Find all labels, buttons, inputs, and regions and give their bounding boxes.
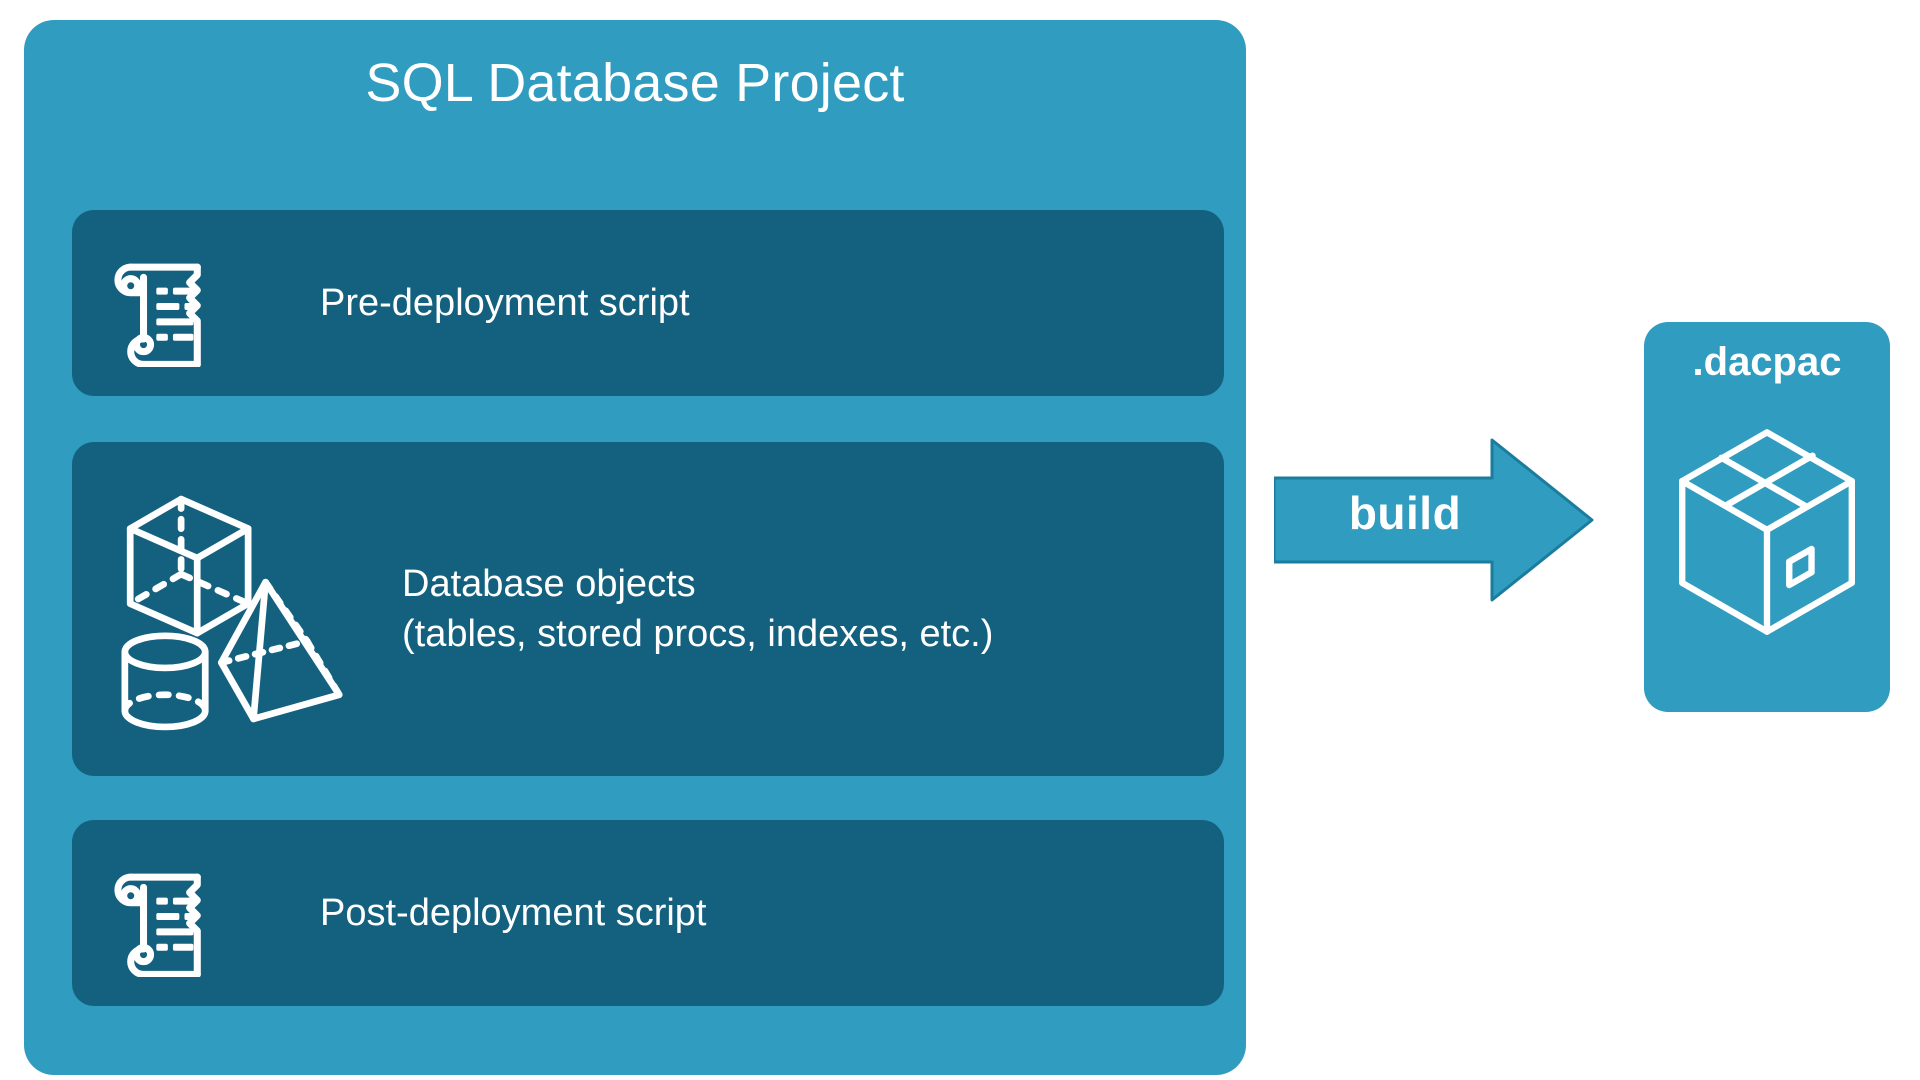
dacpac-output-card[interactable]: .dacpac bbox=[1644, 322, 1890, 712]
scroll-icon bbox=[100, 849, 228, 977]
scroll-icon bbox=[100, 239, 228, 367]
package-box-icon bbox=[1661, 402, 1873, 662]
page-title: SQL Database Project bbox=[24, 54, 1246, 113]
3d-shapes-icon bbox=[90, 475, 358, 743]
card-label-pre-deployment: Pre-deployment script bbox=[320, 278, 690, 328]
cylinder-shape bbox=[125, 636, 205, 727]
card-database-objects[interactable]: Database objects (tables, stored procs, … bbox=[72, 442, 1224, 776]
diagram-canvas: SQL Database Project bbox=[0, 0, 1920, 1080]
sql-database-project-panel: SQL Database Project bbox=[24, 20, 1246, 1075]
card-pre-deployment[interactable]: Pre-deployment script bbox=[72, 210, 1224, 396]
dacpac-title: .dacpac bbox=[1644, 342, 1890, 382]
card-post-deployment[interactable]: Post-deployment script bbox=[72, 820, 1224, 1006]
card-label-post-deployment: Post-deployment script bbox=[320, 888, 707, 938]
card-label-database-objects: Database objects (tables, stored procs, … bbox=[402, 559, 993, 659]
build-label: build bbox=[1310, 490, 1500, 536]
cube-shape bbox=[130, 499, 248, 633]
